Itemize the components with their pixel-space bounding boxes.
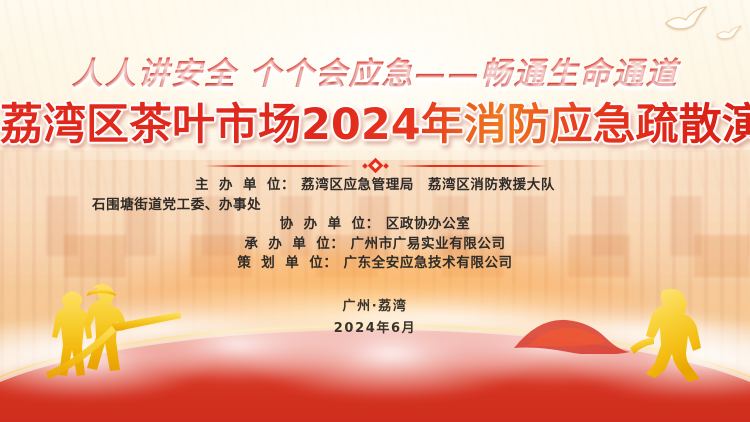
organizer-value: 广东全安应急技术有限公司 (343, 254, 512, 274)
organizer-row: 协办单位 ： 区政协办公室 (0, 215, 750, 235)
diamond-ornament-icon (363, 160, 388, 171)
organizer-row: 主办单位 ： 荔湾区应急管理局 荔湾区消防救援大队 (0, 176, 750, 196)
organizer-value: 区政协办公室 (386, 215, 471, 235)
poster-canvas: 人人讲安全 个个会应急——畅通生命通道 荔湾区茶叶市场2024年消防应急疏散演练… (0, 0, 750, 422)
organizer-value: 荔湾区应急管理局 荔湾区消防救援大队 (301, 176, 555, 196)
main-title-text: 荔湾区茶叶市场2024年消防应急疏散演练 (0, 100, 750, 150)
slogan-text: 人人讲安全 个个会应急——畅通生命通道 (0, 48, 750, 93)
organizer-label: 主办单位 (195, 176, 281, 196)
poster-content: 人人讲安全 个个会应急——畅通生命通道 荔湾区茶叶市场2024年消防应急疏散演练… (0, 0, 750, 422)
divider-rule-left (204, 165, 354, 167)
footer-date: 2024年6月 (0, 318, 750, 340)
organizer-value-continuation: 石围塘街道党工委、办事处 (92, 196, 750, 216)
poster-footer: 广州·荔湾 2024年6月 (0, 296, 750, 340)
divider-rule-right (397, 165, 547, 167)
divider (0, 160, 750, 171)
organizer-label: 承办单位 (244, 235, 330, 255)
organizer-list: 主办单位 ： 荔湾区应急管理局 荔湾区消防救援大队 石围塘街道党工委、办事处 协… (0, 176, 750, 274)
organizer-colon: ： (330, 235, 344, 255)
organizer-label: 协办单位 (280, 215, 366, 235)
page-title: 荔湾区茶叶市场2024年消防应急疏散演练 (0, 103, 750, 148)
footer-place: 广州·荔湾 (0, 296, 750, 318)
organizer-label: 策划单位 (237, 254, 323, 274)
organizer-value: 广州市广易实业有限公司 (351, 235, 506, 255)
organizer-row: 策划单位 ： 广东全安应急技术有限公司 (0, 254, 750, 274)
organizer-colon: ： (323, 254, 337, 274)
organizer-colon: ： (281, 176, 295, 196)
organizer-row: 承办单位 ： 广州市广易实业有限公司 (0, 235, 750, 255)
organizer-colon: ： (366, 215, 380, 235)
